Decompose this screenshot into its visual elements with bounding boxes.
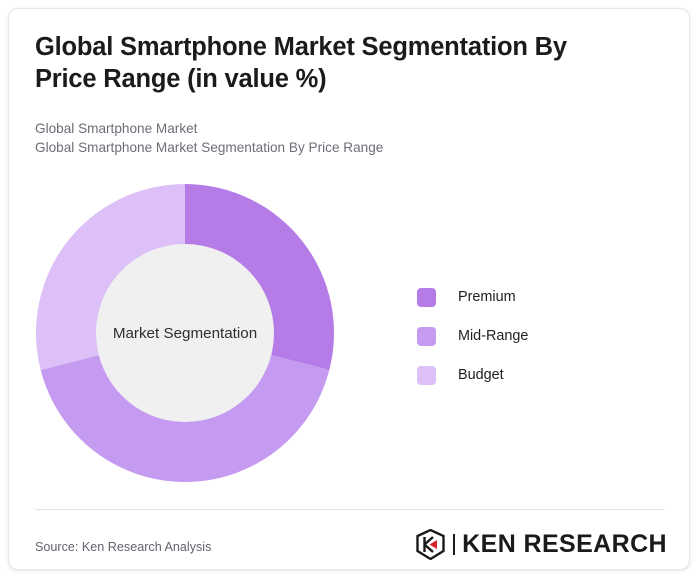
- donut-chart: Market Segmentation: [35, 183, 335, 483]
- breadcrumb-segmentation: Global Smartphone Market Segmentation By…: [35, 139, 383, 157]
- legend-item-label: Mid-Range: [458, 328, 528, 344]
- legend-item-budget[interactable]: Budget: [417, 365, 528, 385]
- page-title: Global Smartphone Market Segmentation By…: [35, 31, 635, 95]
- chart-card: Global Smartphone Market Segmentation By…: [8, 8, 690, 570]
- donut-svg: [35, 183, 335, 483]
- source-note: Source: Ken Research Analysis: [35, 540, 211, 554]
- donut-hole: [96, 244, 274, 422]
- breadcrumb-market: Global Smartphone Market: [35, 120, 197, 138]
- legend-swatch-icon: [417, 327, 436, 346]
- legend-swatch-icon: [417, 288, 436, 307]
- footer-divider: [35, 509, 665, 510]
- legend-item-label: Budget: [458, 367, 504, 383]
- ken-research-shield-icon: [416, 529, 445, 560]
- brand-name: KEN RESEARCH: [462, 532, 667, 557]
- legend-swatch-icon: [417, 366, 436, 385]
- chart-area: Market Segmentation PremiumMid-RangeBudg…: [9, 169, 690, 499]
- brand-logo: KEN RESEARCH: [416, 528, 667, 560]
- legend-item-mid-range[interactable]: Mid-Range: [417, 326, 528, 346]
- chart-legend: PremiumMid-RangeBudget: [417, 287, 528, 404]
- legend-item-label: Premium: [458, 289, 516, 305]
- brand-separator: [453, 534, 455, 555]
- legend-item-premium[interactable]: Premium: [417, 287, 528, 307]
